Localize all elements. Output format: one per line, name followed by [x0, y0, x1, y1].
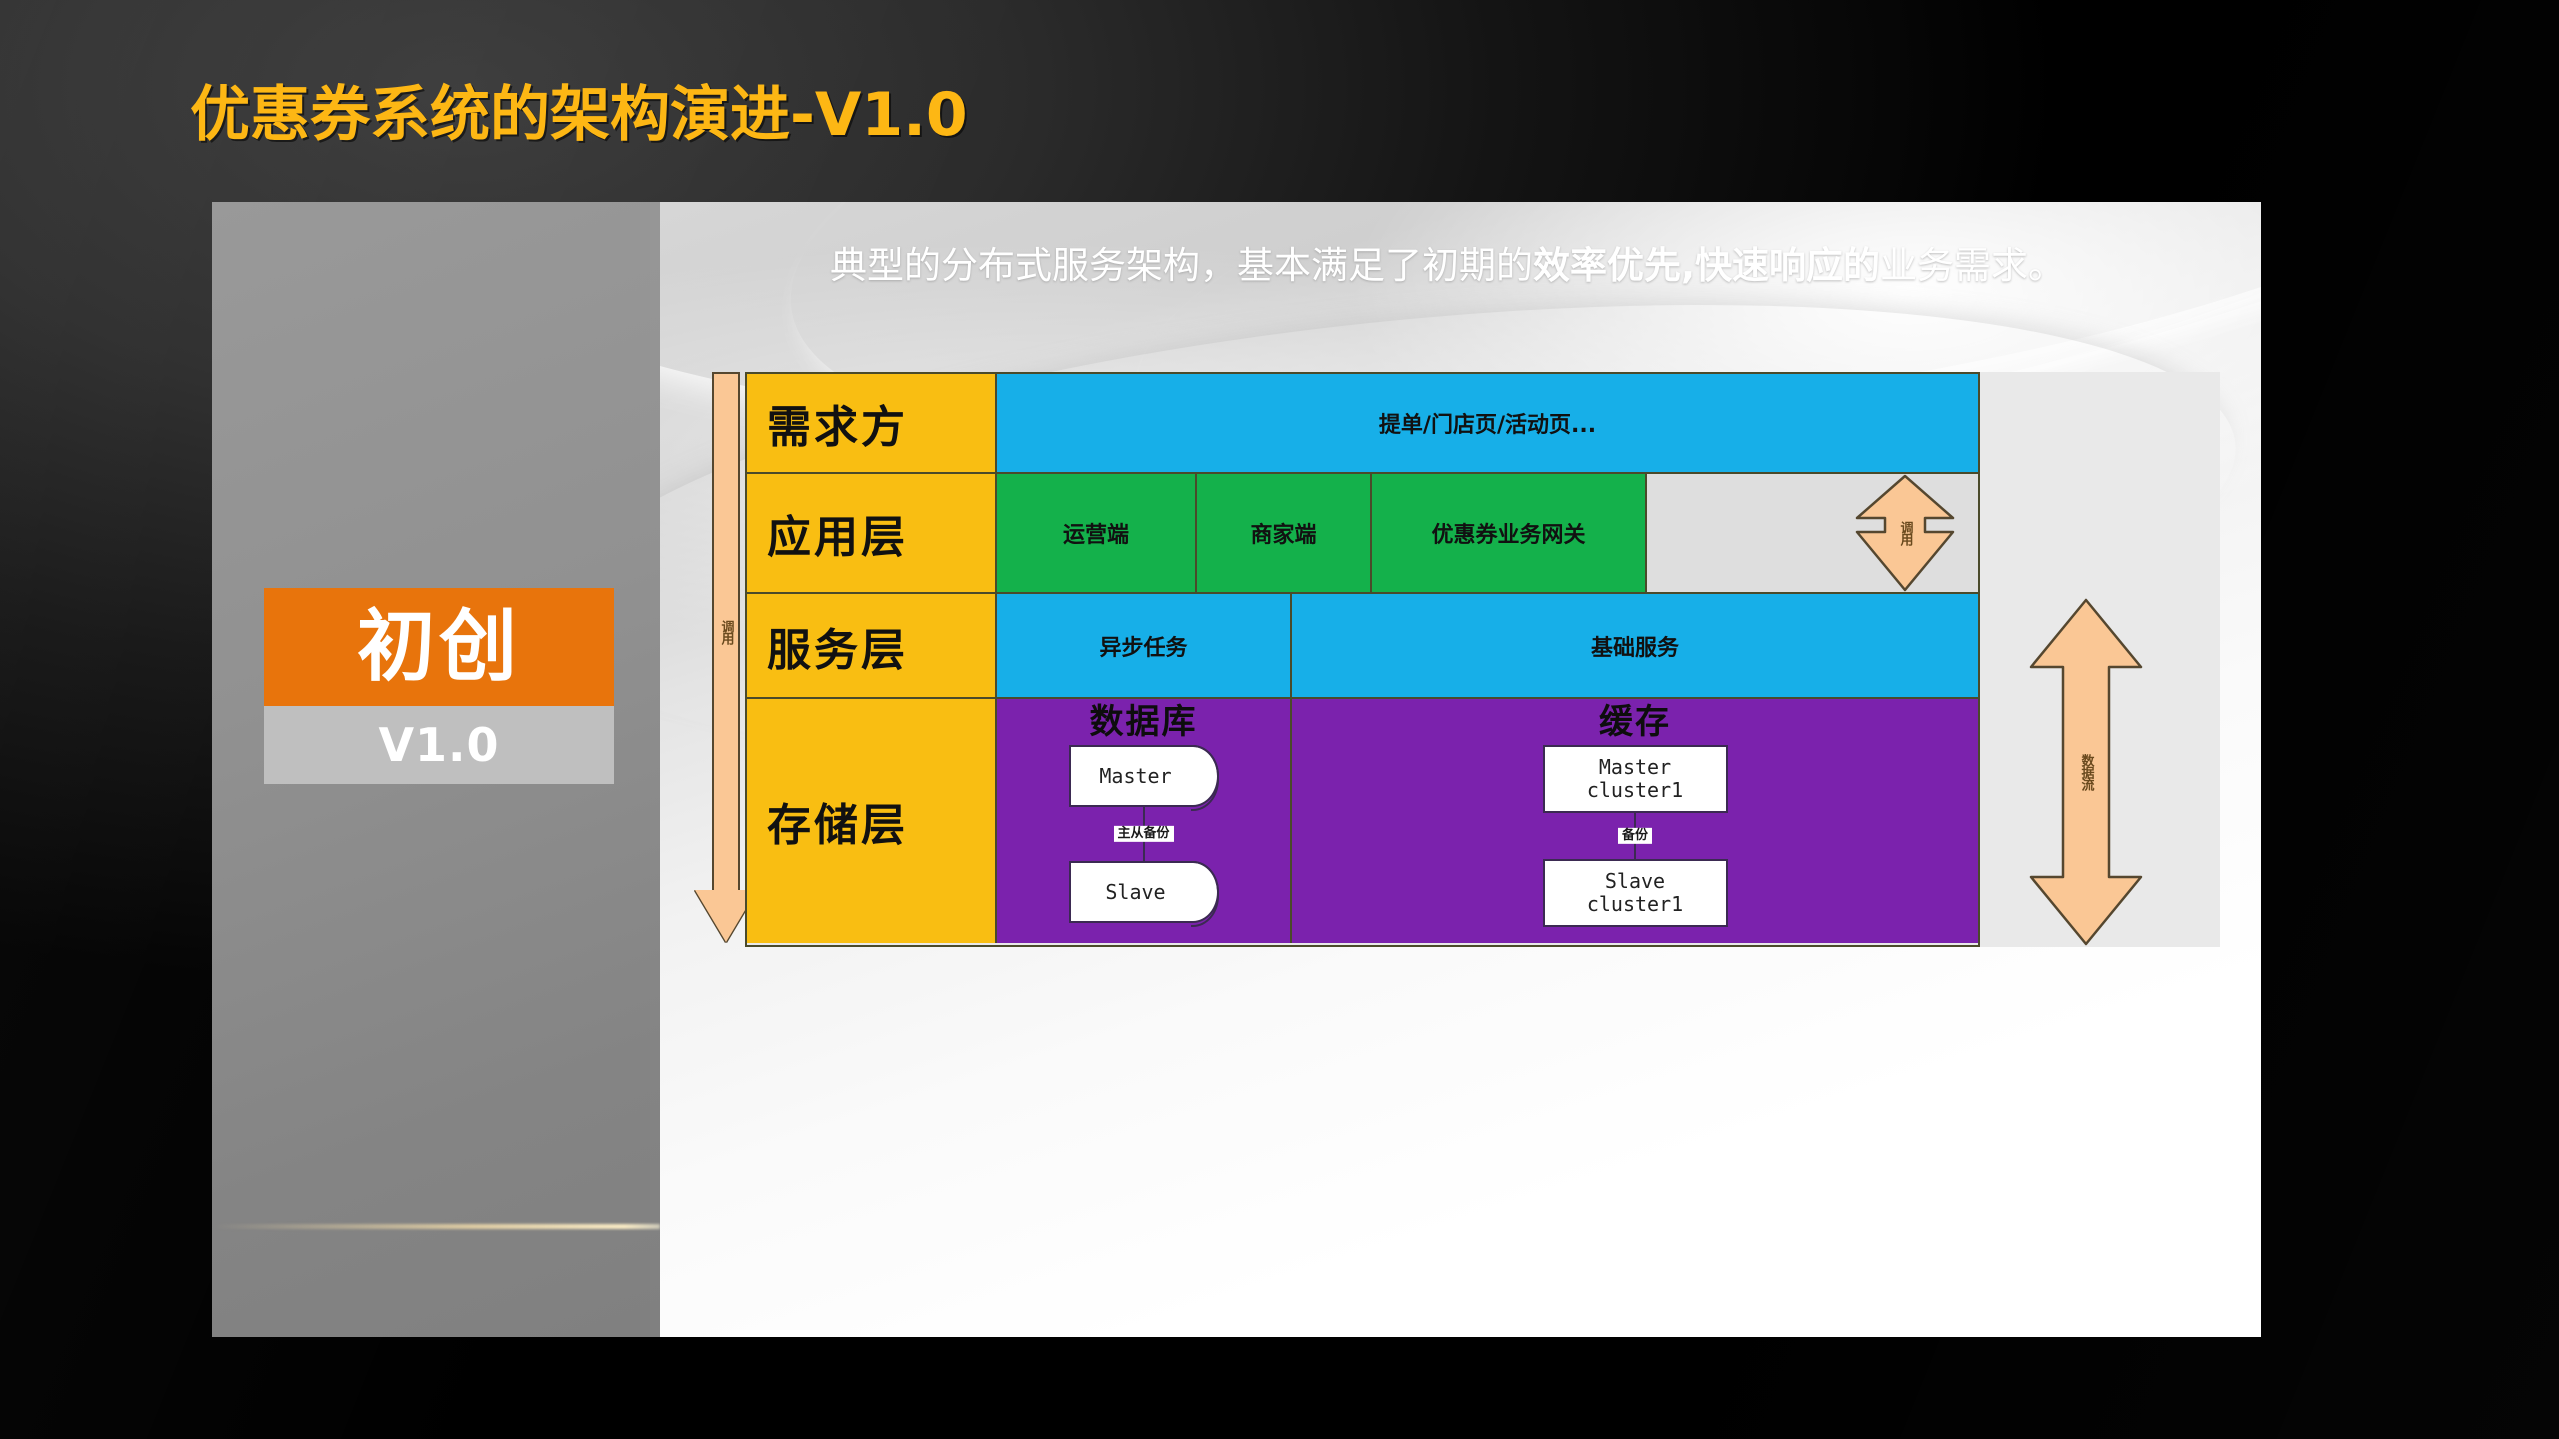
right-double-arrow: 数据流: [2027, 597, 2145, 947]
layer-label-application: 应用层: [747, 474, 997, 594]
layer-grid: 需求方 提单/门店页/活动页... 应用层 运营端 商家端 优惠券业务网关: [745, 372, 1980, 947]
cache-slave-cluster-box: Slave cluster1: [1543, 859, 1728, 927]
db-master-cylinder: Master: [1069, 745, 1219, 807]
layer-body-application: 运营端 商家端 优惠券业务网关: [997, 474, 1978, 594]
lead-paragraph: 典型的分布式服务架构，基本满足了初期的效率优先,快速响应的业务需求。: [830, 240, 2110, 293]
layer-row-demand: 需求方 提单/门店页/活动页...: [747, 374, 1978, 474]
lead-text-emphasis: 效率优先,快速响应的: [1533, 244, 1880, 287]
stage-badge-top: 初创: [264, 588, 614, 706]
page-title: 优惠券系统的架构演进-V1.0: [190, 66, 968, 153]
cache-replication-connector: 备份: [1634, 813, 1636, 859]
storage-cache-title: 缓存: [1599, 705, 1671, 741]
layer-body-service: 异步任务 基础服务: [997, 594, 1978, 699]
architecture-diagram: 调用 需求方 提单/门店页/活动页... 应用层: [745, 372, 2220, 947]
cell-coupon-gateway: 优惠券业务网关: [1372, 474, 1647, 594]
mid-double-arrow-label: 调用: [1899, 521, 1912, 545]
db-slave-label: Slave: [1105, 880, 1165, 904]
lead-text-normal-2: 业务需求。: [1880, 244, 2065, 287]
cell-async-task: 异步任务: [997, 594, 1292, 699]
db-replication-connector: 主从备份: [1143, 807, 1145, 861]
layer-body-storage: 数据库 Master 主从备份 Slave: [997, 699, 1978, 943]
db-replication-label: 主从备份: [1113, 826, 1173, 842]
storage-database-group: 数据库 Master 主从备份 Slave: [997, 699, 1292, 943]
layer-row-service: 服务层 异步任务 基础服务: [747, 594, 1978, 699]
db-master-label: Master: [1099, 764, 1171, 788]
cell-ops-console: 运营端: [997, 474, 1197, 594]
cache-master-line2: cluster1: [1587, 779, 1683, 802]
cell-merchant-console: 商家端: [1197, 474, 1372, 594]
database-node-stack: Master 主从备份 Slave: [1069, 745, 1219, 923]
cache-node-stack: Master cluster1 备份 Slave cluster1: [1543, 745, 1728, 927]
storage-database-title: 数据库: [1090, 705, 1198, 741]
stage-badge-version: V1.0: [378, 722, 499, 768]
left-flow-arrow-label: 调用: [720, 620, 733, 644]
cell-base-service: 基础服务: [1292, 594, 1978, 699]
cell-demand-consumers: 提单/门店页/活动页...: [997, 374, 1978, 474]
cache-slave-line1: Slave: [1605, 870, 1665, 893]
rail-light-streak: [212, 1224, 660, 1229]
layer-label-demand: 需求方: [747, 374, 997, 474]
db-slave-cylinder: Slave: [1069, 861, 1219, 923]
mid-double-arrow: 调用: [1855, 474, 1955, 592]
cache-replication-label: 备份: [1618, 828, 1652, 844]
layer-body-demand: 提单/门店页/活动页...: [997, 374, 1978, 474]
layer-label-service: 服务层: [747, 594, 997, 699]
slide-content-panel: 典型的分布式服务架构，基本满足了初期的效率优先,快速响应的业务需求。 调用 需求…: [660, 202, 2261, 1337]
left-flow-arrow-shaft: 调用: [712, 372, 740, 890]
cache-master-line1: Master: [1599, 756, 1671, 779]
slide-left-rail: 初创 V1.0: [212, 202, 660, 1337]
presentation-backdrop: 优惠券系统的架构演进-V1.0 初创 V1.0 典型的分布式服务架构，基本满足了…: [0, 0, 2559, 1439]
layer-label-storage: 存储层: [747, 699, 997, 943]
layer-row-application: 应用层 运营端 商家端 优惠券业务网关: [747, 474, 1978, 594]
slide-card: 初创 V1.0 典型的分布式服务架构，基本满足了初期的效率优先,快速响应的业务需…: [212, 202, 2261, 1337]
cache-master-cluster-box: Master cluster1: [1543, 745, 1728, 813]
lead-text-normal-1: 典型的分布式服务架构，基本满足了初期的: [830, 244, 1533, 287]
cache-slave-line2: cluster1: [1587, 893, 1683, 916]
stage-badge: 初创 V1.0: [264, 588, 614, 784]
stage-badge-label: 初创: [357, 608, 521, 686]
stage-badge-bottom: V1.0: [264, 706, 614, 784]
layer-row-storage: 存储层 数据库 Master 主从备份: [747, 699, 1978, 943]
right-double-arrow-label: 数据流: [2080, 754, 2093, 790]
storage-cache-group: 缓存 Master cluster1 备份: [1292, 699, 1978, 943]
